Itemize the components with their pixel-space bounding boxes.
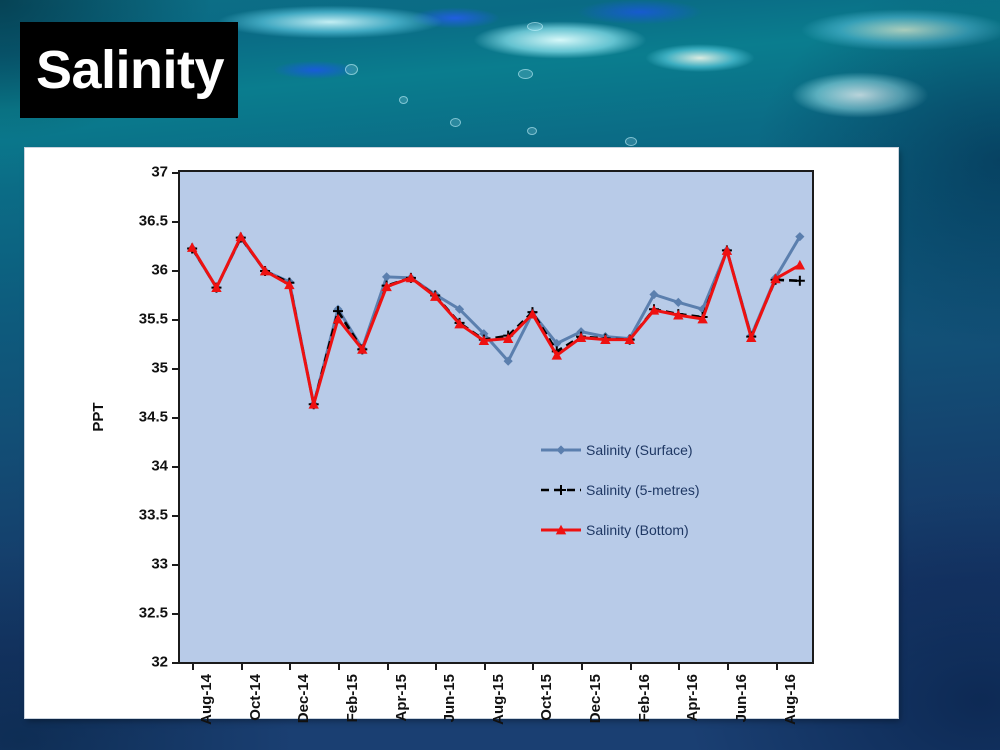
y-axis-tick: [172, 172, 180, 174]
y-axis-tick-label: 33.5: [139, 507, 168, 524]
y-axis-tick-label: 32: [151, 654, 168, 671]
series-salinity-bottom: [187, 231, 805, 408]
data-point-marker: [795, 260, 805, 270]
y-axis-tick-label: 33: [151, 556, 168, 573]
x-axis-tick: [532, 662, 534, 670]
bubble-decor: [527, 22, 543, 31]
series-salinity-5-metres: [187, 233, 805, 410]
data-point-marker: [795, 276, 805, 286]
data-point-marker: [382, 272, 391, 281]
data-point-marker: [187, 242, 197, 252]
data-point-marker: [556, 485, 566, 495]
x-axis-tick: [192, 662, 194, 670]
series-line: [192, 237, 800, 405]
y-axis-tick-label: 35: [151, 360, 168, 377]
y-axis-tick: [172, 613, 180, 615]
bubble-decor: [625, 137, 637, 146]
x-axis-tick: [727, 662, 729, 670]
plot-area: PPT 3736.53635.53534.53433.53332.532 Aug…: [178, 170, 814, 664]
chart-panel: PPT 3736.53635.53534.53433.53332.532 Aug…: [25, 148, 898, 718]
x-axis-tick-label: Apr-15: [393, 674, 410, 722]
page-title: Salinity: [20, 43, 224, 97]
data-point-marker: [236, 231, 246, 241]
x-axis-tick-label: Dec-14: [295, 674, 312, 723]
x-axis-tick-label: Dec-15: [587, 674, 604, 723]
bubble-decor: [527, 127, 537, 135]
x-axis-tick-label: Aug-14: [198, 674, 215, 725]
x-axis-tick: [387, 662, 389, 670]
y-axis-tick-label: 32.5: [139, 605, 168, 622]
title-banner: Salinity: [20, 22, 238, 118]
x-axis-tick-label: Aug-16: [782, 674, 799, 725]
bubble-decor: [345, 64, 358, 75]
y-axis-tick: [172, 564, 180, 566]
y-axis-tick-label: 36.5: [139, 213, 168, 230]
y-axis-title: PPT: [90, 402, 107, 431]
y-axis-tick-label: 35.5: [139, 311, 168, 328]
y-axis-tick: [172, 270, 180, 272]
x-axis-tick: [630, 662, 632, 670]
y-axis-tick: [172, 368, 180, 370]
series-line: [192, 238, 800, 405]
series-salinity-surface: [188, 232, 805, 409]
x-axis-tick-label: Oct-15: [538, 674, 555, 721]
legend-item[interactable]: Salinity (Surface): [540, 430, 700, 470]
x-axis-tick: [435, 662, 437, 670]
x-axis-tick-label: Aug-15: [490, 674, 507, 725]
bubble-decor: [450, 118, 461, 127]
chart-legend: Salinity (Surface)Salinity (5-metres)Sal…: [540, 430, 700, 550]
y-axis-tick: [172, 417, 180, 419]
x-axis-tick: [776, 662, 778, 670]
x-axis-tick: [338, 662, 340, 670]
x-axis-tick-label: Feb-15: [344, 674, 361, 722]
legend-label: Salinity (Bottom): [586, 522, 689, 538]
legend-item[interactable]: Salinity (Bottom): [540, 510, 700, 550]
x-axis-tick: [678, 662, 680, 670]
legend-key-plus-icon: [540, 482, 582, 498]
y-axis-tick-label: 36: [151, 262, 168, 279]
legend-key-triangle-icon: [540, 522, 582, 538]
series-lines: [180, 172, 812, 662]
y-axis-tick: [172, 221, 180, 223]
legend-label: Salinity (Surface): [586, 442, 693, 458]
y-axis-tick-label: 34.5: [139, 409, 168, 426]
y-axis-tick-label: 37: [151, 164, 168, 181]
slide-canvas: Salinity PPT 3736.53635.53534.53433.5333…: [0, 0, 1000, 750]
bubble-decor: [518, 69, 533, 79]
x-axis-tick-label: Jun-15: [441, 674, 458, 722]
data-point-marker: [674, 298, 683, 307]
x-axis-tick: [581, 662, 583, 670]
x-axis-tick-label: Apr-16: [684, 674, 701, 722]
x-axis-tick-label: Oct-14: [247, 674, 264, 721]
x-axis-tick: [241, 662, 243, 670]
data-point-marker: [556, 445, 565, 454]
y-axis-tick: [172, 466, 180, 468]
legend-item[interactable]: Salinity (5-metres): [540, 470, 700, 510]
bubble-decor: [399, 96, 408, 104]
x-axis-tick-label: Jun-16: [733, 674, 750, 722]
legend-label: Salinity (5-metres): [586, 482, 700, 498]
y-axis-tick: [172, 319, 180, 321]
y-axis-tick: [172, 515, 180, 517]
legend-key-diamond-icon: [540, 442, 582, 458]
y-axis-tick: [172, 662, 180, 664]
x-axis-tick-label: Feb-16: [636, 674, 653, 722]
x-axis-tick: [484, 662, 486, 670]
series-line: [192, 237, 800, 405]
x-axis-tick: [289, 662, 291, 670]
y-axis-tick-label: 34: [151, 458, 168, 475]
